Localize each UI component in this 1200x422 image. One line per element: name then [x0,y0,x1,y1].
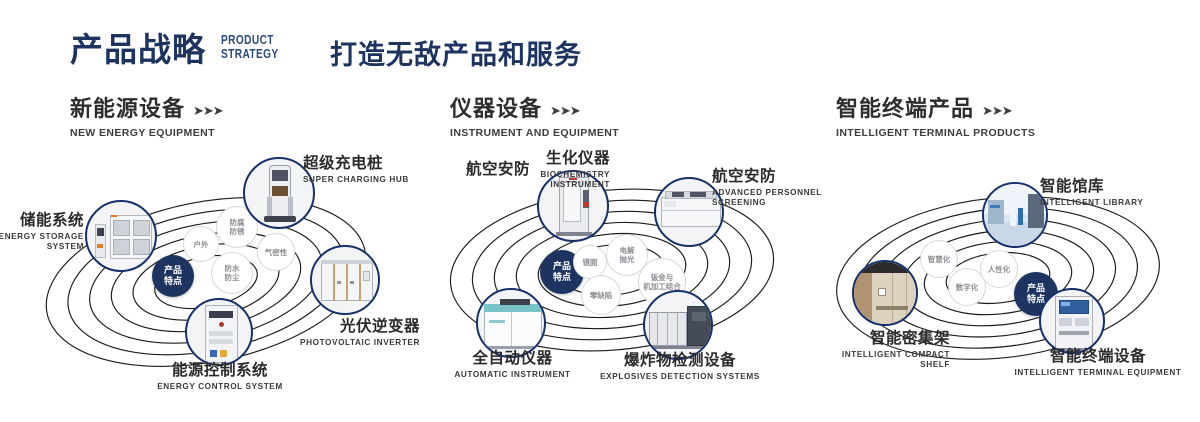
core-bubble-line1: 产品 [553,261,571,272]
product-photo-intelligent-library [984,184,1046,246]
product-photo-explosives-detection [645,292,711,358]
node-label-en: BIOCHEMISTRY INSTRUMENT [460,170,610,190]
node-intelligent-library[interactable] [982,182,1048,248]
feature-bubble-airtightness: 气密性 [257,233,295,271]
page-subtitle: 打造无敌产品和服务 [330,33,582,72]
node-photovoltaic-inverter[interactable] [310,245,380,315]
node-label-cn: 智能密集架 [770,330,950,348]
product-photo-automatic-instrument [478,290,544,356]
node-label-photovoltaic-inverter: 光伏逆变器 PHOTOVOLTAIC INVERTER [250,318,420,348]
node-label-energy-control-system: 能源控制系统 ENERGY CONTROL SYSTEM [110,362,330,392]
node-label-en: ENERGY CONTROL SYSTEM [110,382,330,392]
page-title-english-line2: STRATEGY [221,47,279,61]
feature-bubble-waterproof: 防水 防尘 [211,252,253,294]
node-label-cn: 能源控制系统 [110,362,330,380]
feature-bubble-line2: 防锈 [230,227,245,236]
feature-bubble-line1: 钣金与 [651,273,674,282]
node-label-en: INTELLIGENT TERMINAL EQUIPMENT [998,368,1198,378]
product-strategy-infographic: 产品战略 PRODUCT STRATEGY 打造无敌产品和服务 新能源设备➤➤➤… [0,0,1200,422]
chevron-right-icon: ➤➤➤ [550,103,580,122]
section-heading-instrument: 仪器设备➤➤➤ INSTRUMENT AND EQUIPMENT [450,96,619,139]
section-heading-cn: 智能终端产品 [836,96,974,122]
node-label-explosives-detection-systems: 爆炸物检测设备 EXPLOSIVES DETECTION SYSTEMS [590,352,770,382]
node-label-en: ENERGY STORAGE SYSTEM [0,232,84,252]
feature-bubble-line1: 电解 [620,246,635,255]
page-header: 产品战略 PRODUCT STRATEGY 打造无敌产品和服务 [0,0,1200,90]
feature-bubble-line1: 防腐 [230,218,245,227]
node-energy-storage-system[interactable] [85,200,157,272]
node-energy-control-system[interactable] [185,298,253,366]
section-heading-en: INTELLIGENT TERMINAL PRODUCTS [836,127,1035,139]
section-heading-cn: 新能源设备 [70,96,185,122]
feature-bubble-humanized: 人性化 [980,250,1018,288]
node-label-en: AUTOMATIC INSTRUMENT [425,370,600,380]
diagram-instrument: 产品 特点 镜面 电解 抛光 零缺陷 钣金与 机加工结合 [400,150,820,400]
feature-bubble-label: 户外 [194,240,209,249]
core-bubble-line1: 产品 [164,265,182,276]
product-photo-energy-storage [87,202,155,270]
node-label-cn: 爆炸物检测设备 [590,352,770,370]
page-title: 产品战略 [70,30,206,70]
product-photo-terminal-equipment [1041,290,1103,352]
node-label-cn: 智能馆库 [1040,178,1190,196]
core-bubble-line2: 特点 [164,276,182,287]
feature-bubble-line1: 防水 [225,264,240,273]
feature-bubble-line2: 防尘 [225,273,240,282]
feature-bubble-outdoor: 户外 [183,226,219,262]
node-label-biochemistry-instrument: 生化仪器 BIOCHEMISTRY INSTRUMENT [460,150,610,190]
node-explosives-detection-systems[interactable] [643,290,713,360]
diagram-intelligent-terminal: 智慧化 数字化 人性化 产品 特点 智能馆库 [790,150,1200,400]
feature-bubble-zero-defect: 零缺陷 [581,275,621,315]
node-label-intelligent-library: 智能馆库 INTELLIGENT LIBRARY [1040,178,1190,208]
node-label-en: EXPLOSIVES DETECTION SYSTEMS [590,372,770,382]
node-intelligent-compact-shelf[interactable] [852,260,918,326]
node-label-en: INTELLIGENT LIBRARY [1040,198,1190,208]
section-heading-en: NEW ENERGY EQUIPMENT [70,127,223,139]
feature-bubble-label: 气密性 [265,248,288,257]
node-label-en: PHOTOVOLTAIC INVERTER [250,338,420,348]
diagram-new-energy: 产品 特点 户外 防腐 防锈 防水 防尘 气密性 [0,150,420,400]
node-intelligent-terminal-equipment[interactable] [1039,288,1105,354]
feature-bubble-label: 人性化 [988,265,1011,274]
product-photo-pv-inverter [312,247,378,313]
node-label-cn: 光伏逆变器 [250,318,420,336]
node-label-energy-storage-system: 储能系统 ENERGY STORAGE SYSTEM [0,212,84,252]
node-label-cn: 智能终端设备 [998,348,1198,366]
feature-bubble-line2: 抛光 [620,255,635,264]
core-bubble-product-features: 产品 特点 [152,255,194,297]
core-bubble-line2: 特点 [553,272,571,283]
page-title-english-line1: PRODUCT [221,33,279,47]
product-photo-compact-shelf [854,262,916,324]
chevron-right-icon: ➤➤➤ [193,103,223,122]
feature-bubble-label: 智慧化 [928,255,951,264]
node-label-cn: 生化仪器 [460,150,610,168]
product-photo-energy-control [187,300,251,364]
chevron-right-icon: ➤➤➤ [982,103,1012,122]
feature-bubble-label: 数字化 [956,283,979,292]
node-label-cn: 储能系统 [0,212,84,230]
feature-bubble-mirror-finish: 镜面 [573,245,607,279]
feature-bubble-label: 零缺陷 [590,291,613,300]
node-label-intelligent-terminal-equipment: 智能终端设备 INTELLIGENT TERMINAL EQUIPMENT [998,348,1198,378]
section-heading-new-energy: 新能源设备➤➤➤ NEW ENERGY EQUIPMENT [70,96,223,139]
section-heading-intelligent-terminal: 智能终端产品➤➤➤ INTELLIGENT TERMINAL PRODUCTS [836,96,1035,139]
feature-bubble-intelligent: 智慧化 [920,240,958,278]
section-heading-en: INSTRUMENT AND EQUIPMENT [450,127,619,139]
page-title-english: PRODUCT STRATEGY [221,33,279,61]
section-heading-cn: 仪器设备 [450,96,542,122]
node-label-automatic-instrument: 全自动仪器 AUTOMATIC INSTRUMENT [425,350,600,380]
node-label-intelligent-compact-shelf: 智能密集架 INTELLIGENT COMPACT SHELF [770,330,950,370]
node-label-cn: 全自动仪器 [425,350,600,368]
feature-bubble-label: 镜面 [583,258,598,267]
node-automatic-instrument[interactable] [476,288,546,358]
node-label-en: INTELLIGENT COMPACT SHELF [770,350,950,370]
